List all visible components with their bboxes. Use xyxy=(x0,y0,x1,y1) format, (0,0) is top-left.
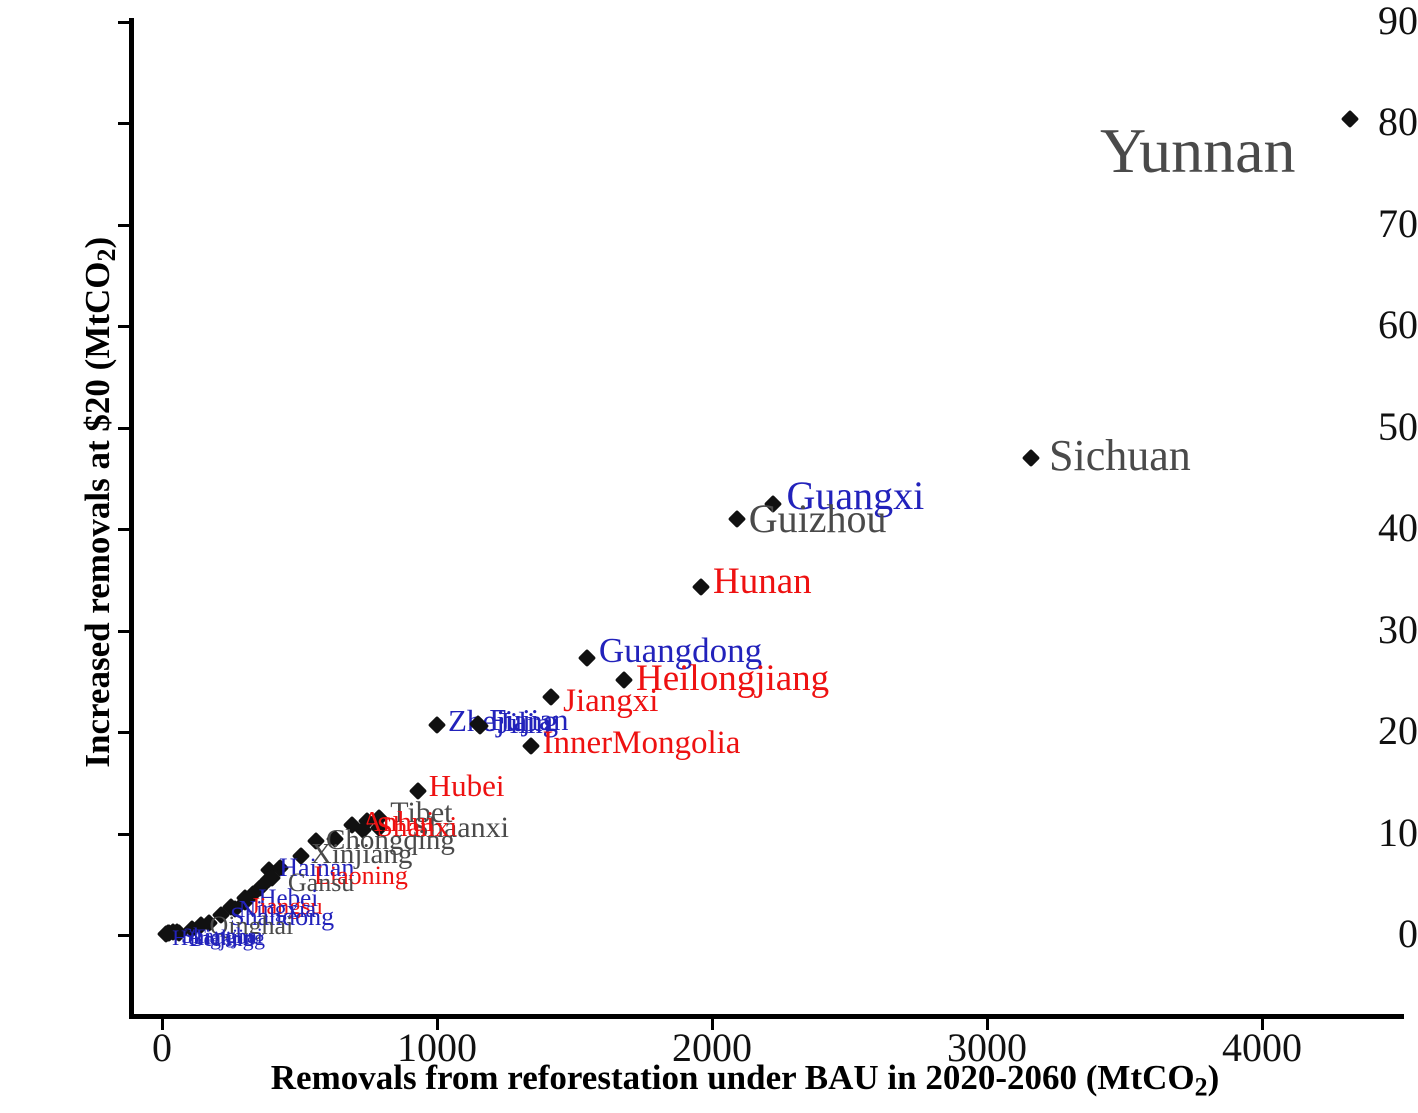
data-point-marker xyxy=(578,649,596,667)
data-point-marker xyxy=(1341,110,1359,128)
data-point-label: Heilongjiang xyxy=(636,660,829,697)
data-point-marker xyxy=(428,716,446,734)
data-point-label: InnerMongolia xyxy=(543,727,741,760)
data-point-label: Hongkong xyxy=(172,927,265,949)
y-axis-title: Increased removals at $20 (MtCO2) xyxy=(78,52,122,952)
data-point-marker xyxy=(728,510,746,528)
data-point-label: Yunnan xyxy=(1100,119,1296,183)
data-point-label: Hunan xyxy=(713,563,812,600)
scatter-chart-figure: 010203040506070809001000200030004000 Yun… xyxy=(0,0,1418,1113)
plot-area: YunnanSichuanGuangxiGuizhouHunanGuangdon… xyxy=(0,0,1418,1113)
x-axis-title: Removals from reforestation under BAU in… xyxy=(80,1058,1410,1102)
data-point-marker xyxy=(521,737,539,755)
data-point-label: Guizhou xyxy=(749,499,887,539)
data-point-label: Sichuan xyxy=(1049,434,1191,478)
data-point-marker xyxy=(692,578,710,596)
data-point-marker xyxy=(1022,449,1040,467)
data-point-label: Jiangxi xyxy=(563,685,658,718)
